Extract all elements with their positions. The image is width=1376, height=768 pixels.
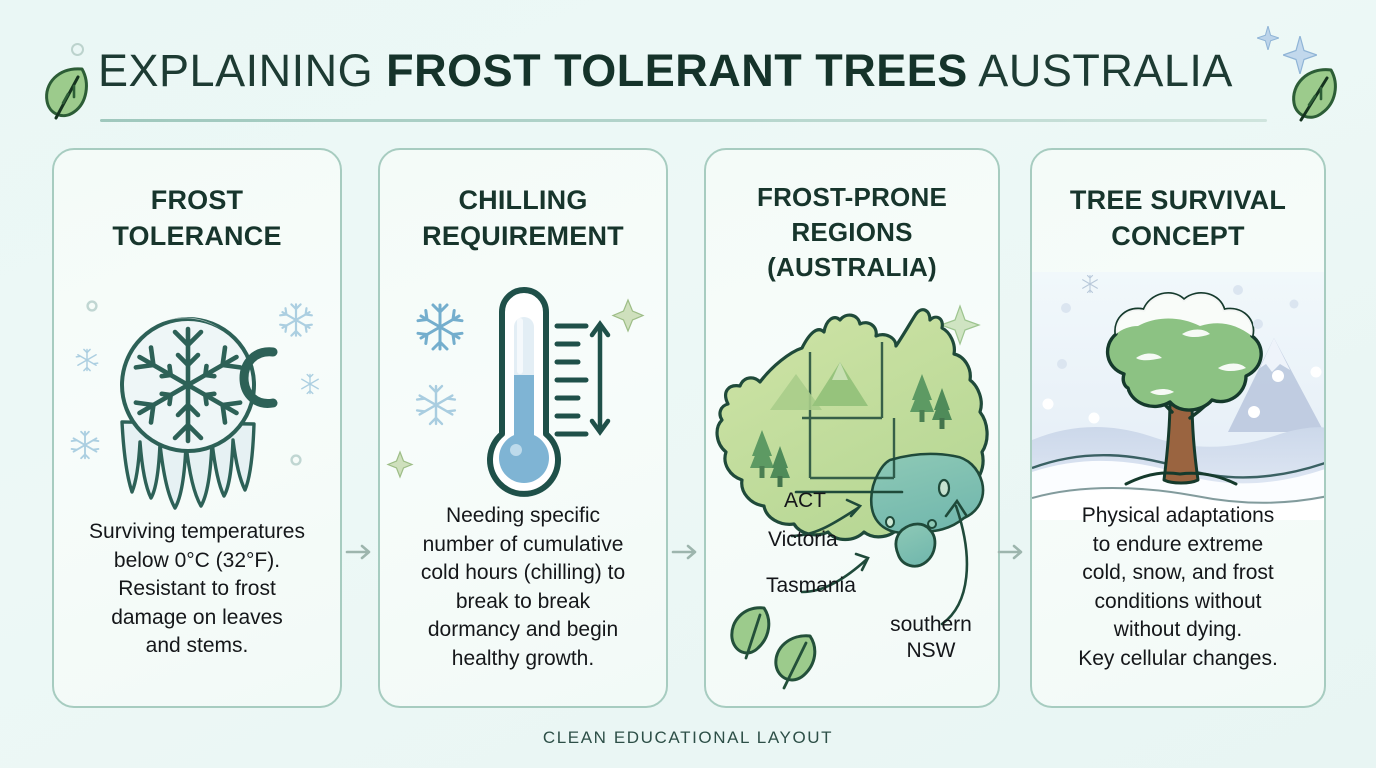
card-frost-prone-regions[interactable]: FROST-PRONE REGIONS (AUSTRALIA) [704, 148, 1000, 708]
card-body: Needing specific number of cumulative co… [394, 502, 652, 673]
card-title-line: TOLERANCE [64, 218, 330, 254]
card-title-line: (AUSTRALIA) [716, 250, 988, 285]
card-body-line: dormancy and begin [394, 616, 652, 645]
infographic-page: EXPLAINING FROST TOLERANT TREES AUSTRALI… [0, 0, 1376, 768]
card-body-line: Resistant to frost [68, 575, 326, 604]
frozen-snowflake-ball-icon [54, 282, 340, 512]
page-title-lead: EXPLAINING [98, 45, 386, 96]
map-label-tasmania: Tasmania [766, 573, 856, 599]
flow-arrow-1 [344, 540, 374, 564]
card-title: FROST-PRONE REGIONS (AUSTRALIA) [716, 180, 988, 285]
thermometer-icon [380, 282, 666, 512]
card-body-line: conditions without [1046, 588, 1310, 617]
card-title-line: CHILLING [390, 182, 656, 218]
card-title-line: FROST-PRONE [716, 180, 988, 215]
card-body-line: Surviving temperatures [68, 518, 326, 547]
card-body: Physical adaptations to endure extreme c… [1046, 502, 1310, 673]
footer-caption: CLEAN EDUCATIONAL LAYOUT [0, 728, 1376, 748]
ring-dot-icon [88, 302, 97, 311]
card-title-line: TREE SURVIVAL [1042, 182, 1314, 218]
sparkle-icon [613, 300, 643, 331]
card-title-line: FROST [64, 182, 330, 218]
page-title-tail: AUSTRALIA [968, 45, 1233, 96]
celsius-c-icon [244, 352, 273, 404]
card-body-line: break to break [394, 588, 652, 617]
cards-row: FROST TOLERANCE [0, 148, 1376, 708]
card-title-line: CONCEPT [1042, 218, 1314, 254]
card-body-line: Key cellular changes. [1046, 645, 1310, 674]
card-frost-tolerance[interactable]: FROST TOLERANCE [52, 148, 342, 708]
two-leaves-icon [720, 602, 818, 694]
australia-landmass [717, 310, 987, 566]
card-title: TREE SURVIVAL CONCEPT [1042, 182, 1314, 254]
card-body-line: Needing specific [394, 502, 652, 531]
card-body-line: cold hours (chilling) to [394, 559, 652, 588]
header: EXPLAINING FROST TOLERANT TREES AUSTRALI… [0, 0, 1376, 140]
map-label-act: ACT [784, 488, 826, 514]
snowy-tree-scene-icon [1032, 272, 1324, 520]
flow-arrow-3 [996, 540, 1026, 564]
sparkle-icon [1283, 36, 1317, 74]
sparkle-icon [1257, 26, 1279, 50]
title-underline [100, 119, 1267, 122]
card-chilling-requirement[interactable]: CHILLING REQUIREMENT [378, 148, 668, 708]
card-body-line: cold, snow, and frost [1046, 559, 1310, 588]
card-body-line: healthy growth. [394, 645, 652, 674]
card-body: Surviving temperatures below 0°C (32°F).… [68, 518, 326, 661]
card-title: CHILLING REQUIREMENT [390, 182, 656, 254]
card-title-line: REGIONS [716, 215, 988, 250]
card-body-line: number of cumulative [394, 531, 652, 560]
flow-arrow-2 [670, 540, 700, 564]
card-tree-survival-concept[interactable]: TREE SURVIVAL CONCEPT [1030, 148, 1326, 708]
page-title-emphasis: FROST TOLERANT TREES [386, 45, 968, 96]
tree-canopy [1108, 294, 1262, 410]
card-title: FROST TOLERANCE [64, 182, 330, 254]
range-arrow-icon [592, 324, 608, 432]
card-body-line: without dying. [1046, 616, 1310, 645]
map-label-southern-nsw: southern NSW [874, 612, 988, 664]
act-marker [939, 480, 949, 496]
ring-dot-icon [292, 456, 301, 465]
page-title: EXPLAINING FROST TOLERANT TREES AUSTRALI… [98, 46, 1278, 96]
thermometer-scale [557, 326, 586, 434]
card-title-line: REQUIREMENT [390, 218, 656, 254]
card-body-line: Physical adaptations [1046, 502, 1310, 531]
card-body-line: to endure extreme [1046, 531, 1310, 560]
tasmania-island [896, 524, 935, 566]
leaf-icon [38, 62, 94, 122]
sparkle-icon [388, 452, 412, 477]
card-body-line: damage on leaves [68, 604, 326, 633]
map-label-victoria: Victoria [768, 527, 838, 553]
card-body-line: below 0°C (32°F). [68, 547, 326, 576]
ring-dot-icon [71, 43, 84, 56]
card-body-line: and stems. [68, 632, 326, 661]
